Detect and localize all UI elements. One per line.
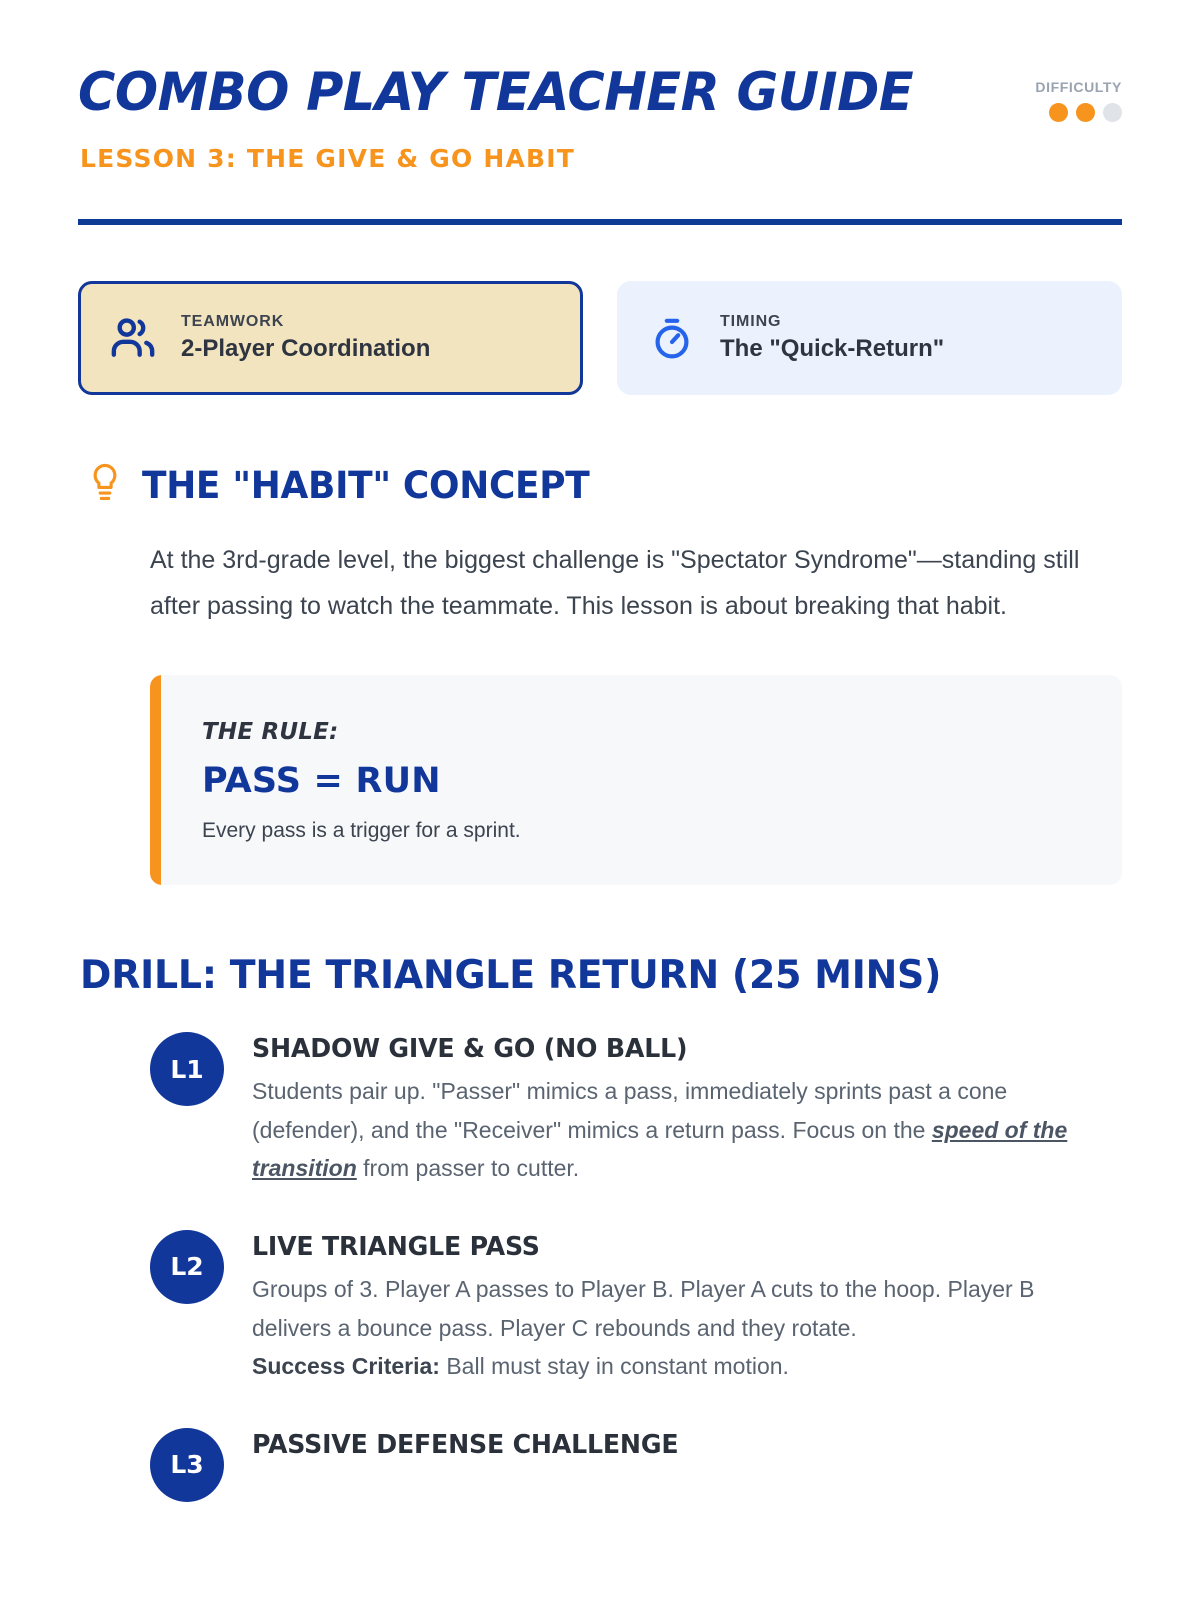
callout-accent-bar [150, 675, 161, 885]
step-desc-part1: Groups of 3. Player A passes to Player B… [252, 1276, 1034, 1341]
step-title: LIVE TRIANGLE PASS [252, 1232, 1055, 1262]
difficulty-dot-3 [1103, 103, 1122, 122]
step-body: LIVE TRIANGLE PASS Groups of 3. Player A… [252, 1230, 1080, 1386]
info-card-value: The "Quick-Return" [720, 336, 944, 362]
step-badge-l1: L1 [150, 1032, 224, 1106]
callout-rule-text: PASS = RUN [202, 761, 1070, 801]
step-body: SHADOW GIVE & GO (NO BALL) Students pair… [252, 1032, 1080, 1188]
difficulty-label: DIFFICULTY [1035, 80, 1122, 94]
drill-heading: DRILL: THE TRIANGLE RETURN (25 MINS) [80, 953, 1091, 998]
difficulty-dot-2 [1076, 103, 1095, 122]
lightbulb-icon [88, 461, 122, 510]
success-criteria-label: Success Criteria: [252, 1353, 440, 1379]
difficulty-dots [1035, 103, 1122, 122]
step-description: Students pair up. "Passer" mimics a pass… [252, 1072, 1080, 1188]
concept-paragraph: At the 3rd-grade level, the biggest chal… [150, 538, 1100, 629]
info-card-kicker: TIMING [720, 314, 944, 330]
document-header: COMBO PLAY TEACHER GUIDE DIFFICULTY [78, 0, 1122, 122]
concept-heading: THE "HABIT" CONCEPT [142, 464, 589, 507]
step-desc-part1: Students pair up. "Passer" mimics a pass… [252, 1078, 1007, 1143]
difficulty-meter: DIFFICULTY [1035, 66, 1122, 122]
success-criteria-text: Ball must stay in constant motion. [440, 1353, 789, 1379]
drill-step: L2 LIVE TRIANGLE PASS Groups of 3. Playe… [78, 1230, 1122, 1386]
step-badge-l2: L2 [150, 1230, 224, 1304]
step-title: SHADOW GIVE & GO (NO BALL) [252, 1034, 1055, 1064]
info-card-value: 2-Player Coordination [181, 336, 430, 362]
step-body: PASSIVE DEFENSE CHALLENGE [252, 1428, 1080, 1502]
header-divider [78, 219, 1122, 225]
info-card-text: TEAMWORK 2-Player Coordination [181, 314, 430, 362]
step-desc-part2: from passer to cutter. [357, 1155, 579, 1181]
step-title: PASSIVE DEFENSE CHALLENGE [252, 1430, 1055, 1460]
teacher-guide-page: COMBO PLAY TEACHER GUIDE DIFFICULTY LESS… [0, 0, 1200, 1600]
info-card-timing: TIMING The "Quick-Return" [617, 281, 1122, 395]
users-icon [107, 312, 159, 364]
info-card-text: TIMING The "Quick-Return" [720, 314, 944, 362]
step-description: Groups of 3. Player A passes to Player B… [252, 1270, 1080, 1386]
stopwatch-icon [646, 312, 698, 364]
callout-subtext: Every pass is a trigger for a sprint. [202, 819, 1070, 843]
step-badge-l3: L3 [150, 1428, 224, 1502]
info-card-kicker: TEAMWORK [181, 314, 430, 330]
page-title: COMBO PLAY TEACHER GUIDE [78, 66, 913, 120]
rule-callout: THE RULE: PASS = RUN Every pass is a tri… [150, 675, 1122, 885]
difficulty-dot-1 [1049, 103, 1068, 122]
lesson-subtitle: LESSON 3: THE GIVE & GO HABIT [80, 144, 1122, 173]
concept-section-header: THE "HABIT" CONCEPT [78, 461, 1122, 510]
drill-step: L3 PASSIVE DEFENSE CHALLENGE [78, 1428, 1122, 1502]
drill-step: L1 SHADOW GIVE & GO (NO BALL) Students p… [78, 1032, 1122, 1188]
info-card-teamwork: TEAMWORK 2-Player Coordination [78, 281, 583, 395]
info-card-row: TEAMWORK 2-Player Coordination TIMING Th… [78, 281, 1122, 395]
callout-kicker: THE RULE: [202, 719, 1070, 745]
drill-step-list: L1 SHADOW GIVE & GO (NO BALL) Students p… [78, 1032, 1122, 1502]
